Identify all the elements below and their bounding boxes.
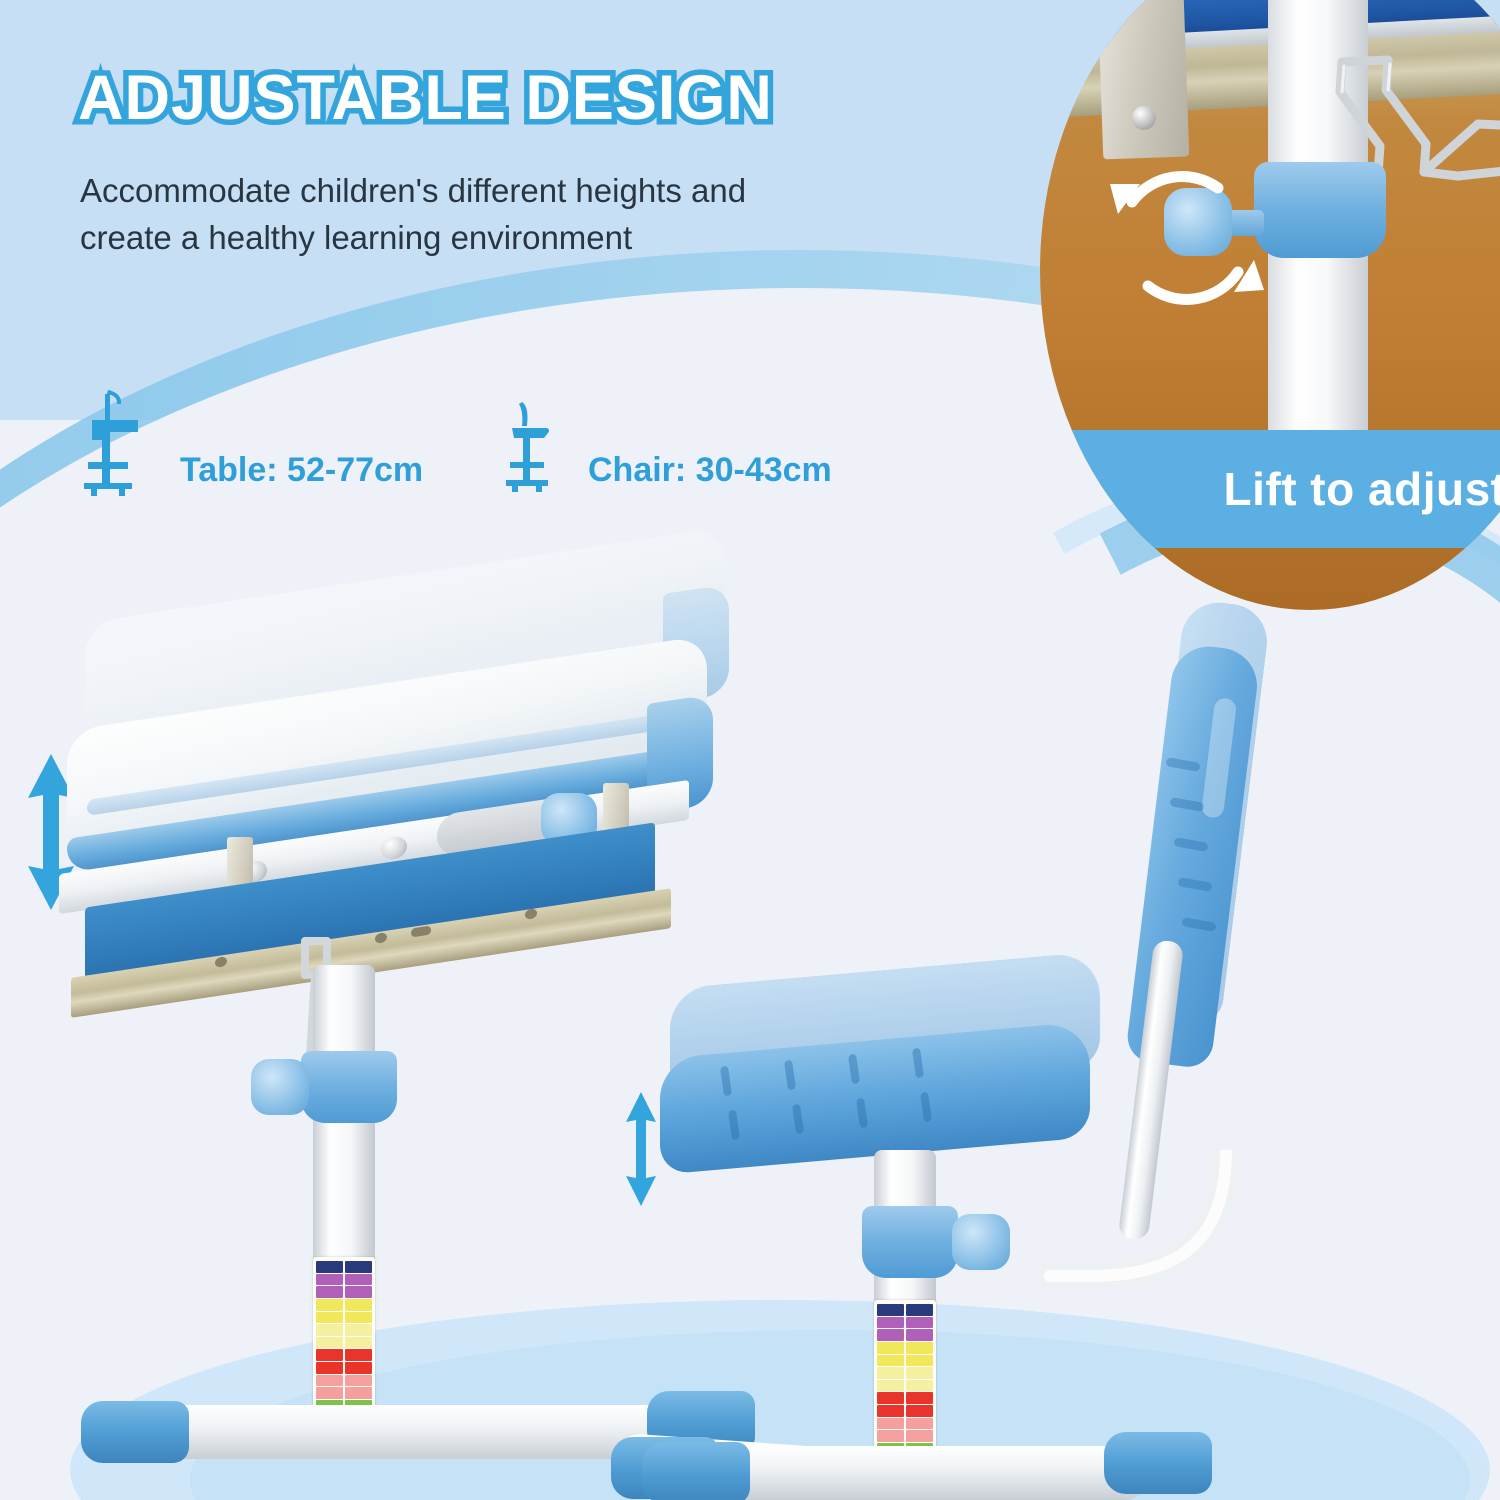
sticker-row <box>877 1329 933 1341</box>
marketing-banner: ADJUSTABLE DESIGN Accommodate children's… <box>0 0 1500 1500</box>
sticker-row <box>877 1367 933 1379</box>
sticker-cell <box>345 1274 372 1286</box>
sticker-row <box>316 1337 372 1349</box>
sticker-row <box>877 1342 933 1354</box>
page-subtitle: Accommodate children's different heights… <box>80 168 746 262</box>
page-title: ADJUSTABLE DESIGN <box>78 62 773 134</box>
sticker-row <box>877 1430 933 1442</box>
spec-table-label: Table: 52-77cm <box>180 451 423 490</box>
sticker-cell <box>316 1312 343 1324</box>
sticker-cell <box>906 1317 933 1329</box>
sticker-cell <box>345 1324 372 1336</box>
sticker-row <box>316 1274 372 1286</box>
sticker-cell <box>316 1274 343 1286</box>
sticker-cell <box>906 1405 933 1417</box>
sticker-row <box>316 1375 372 1387</box>
desk-leg-knob <box>251 1059 309 1115</box>
sticker-cell <box>316 1286 343 1298</box>
sticker-header-row <box>316 1261 372 1273</box>
sticker-cell <box>345 1261 372 1273</box>
inset-caption-text: Lift to adjust <box>1224 462 1500 516</box>
sticker-cell <box>316 1337 343 1349</box>
sticker-cell <box>877 1355 904 1367</box>
sticker-row <box>316 1324 372 1336</box>
sticker-row <box>316 1299 372 1311</box>
spec-chair-label: Chair: 30-43cm <box>588 451 832 490</box>
sticker-row <box>316 1362 372 1374</box>
sticker-row <box>316 1349 372 1361</box>
sticker-cell <box>345 1312 372 1324</box>
sticker-row <box>316 1387 372 1399</box>
sticker-cell <box>345 1337 372 1349</box>
sticker-cell <box>906 1329 933 1341</box>
sticker-cell <box>316 1362 343 1374</box>
sticker-cell <box>316 1375 343 1387</box>
sticker-header-row <box>877 1304 933 1316</box>
sticker-cell <box>345 1299 372 1311</box>
chair-leg-knob <box>952 1214 1010 1270</box>
sticker-row <box>316 1286 372 1298</box>
sticker-cell <box>345 1387 372 1399</box>
sticker-cell <box>906 1367 933 1379</box>
sticker-cell <box>345 1286 372 1298</box>
chair-foot-bar <box>690 1446 1150 1500</box>
sticker-cell <box>877 1329 904 1341</box>
sticker-row <box>877 1355 933 1367</box>
rotation-arrows-icon <box>1092 140 1292 330</box>
detail-inset-photo: Lift to adjust <box>1040 0 1500 610</box>
sticker-row <box>316 1312 372 1324</box>
sticker-cell <box>877 1304 904 1316</box>
sticker-cell <box>906 1304 933 1316</box>
sticker-row <box>877 1405 933 1417</box>
sticker-cell <box>316 1261 343 1273</box>
sticker-cell <box>877 1405 904 1417</box>
adjustable-study-chair: MADE IN CHINA <box>660 610 1300 1490</box>
sticker-cell <box>877 1418 904 1430</box>
sticker-row <box>877 1418 933 1430</box>
inset-caption-banner: Lift to adjust <box>1040 430 1500 548</box>
sticker-cell <box>316 1349 343 1361</box>
subtitle-line-1: Accommodate children's different heights… <box>80 168 746 215</box>
spec-chair: Chair: 30-43cm <box>500 400 832 496</box>
sticker-cell <box>906 1418 933 1430</box>
sticker-row <box>877 1380 933 1392</box>
sticker-cell <box>906 1355 933 1367</box>
sticker-cell <box>877 1342 904 1354</box>
sticker-cell <box>316 1387 343 1399</box>
subtitle-line-2: create a healthy learning environment <box>80 215 746 262</box>
chair-leg-collar <box>862 1206 958 1278</box>
sticker-cell <box>906 1342 933 1354</box>
sticker-cell <box>877 1430 904 1442</box>
chair-foot-cap-left <box>642 1442 750 1500</box>
sticker-cell <box>345 1375 372 1387</box>
sticker-cell <box>906 1392 933 1404</box>
sticker-row <box>877 1317 933 1329</box>
sticker-cell <box>877 1317 904 1329</box>
sticker-cell <box>877 1367 904 1379</box>
sticker-cell <box>877 1380 904 1392</box>
inset-bracket <box>1097 0 1190 159</box>
desk-foot-bar <box>133 1405 693 1459</box>
chair-frame-curve <box>1030 1150 1250 1310</box>
desk-leg-collar <box>301 1051 397 1123</box>
sticker-cell <box>877 1392 904 1404</box>
sticker-cell <box>316 1324 343 1336</box>
sticker-cell <box>906 1380 933 1392</box>
spec-table: Table: 52-77cm <box>78 388 423 498</box>
screw-icon <box>1132 106 1157 131</box>
sticker-cell <box>345 1349 372 1361</box>
sticker-cell <box>345 1362 372 1374</box>
desk-silhouette-icon <box>78 388 152 498</box>
desk-foot-cap-left <box>81 1401 189 1463</box>
chair-foot-cap-right <box>1104 1432 1212 1494</box>
sticker-cell <box>906 1430 933 1442</box>
chair-silhouette-icon <box>500 400 562 496</box>
sticker-cell <box>316 1299 343 1311</box>
sticker-row <box>877 1392 933 1404</box>
